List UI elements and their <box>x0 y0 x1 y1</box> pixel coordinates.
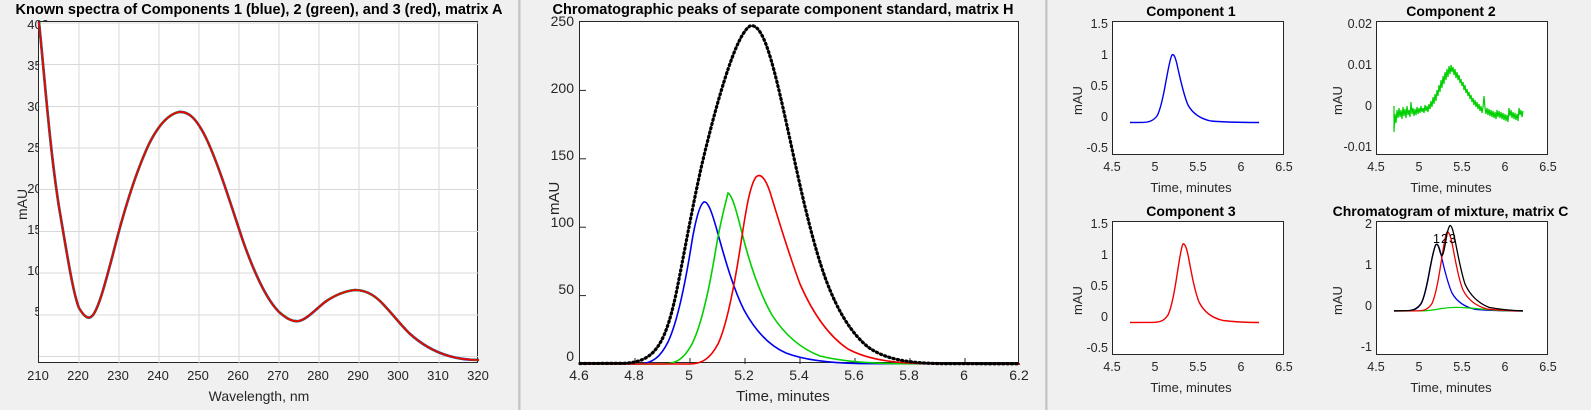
component1-xlabel: Time, minutes <box>1060 180 1322 195</box>
component2-ytick: 0 <box>1326 99 1372 113</box>
panel-components: Component 1 mAU Time, minutes 1.5 1 0.5 … <box>1048 0 1591 410</box>
mixture-plot <box>1377 222 1549 356</box>
component3-axes <box>1112 221 1284 355</box>
standards-ticks <box>580 90 965 364</box>
standards-xtick: 5.4 <box>779 367 819 383</box>
spectra-xtick: 230 <box>99 368 137 383</box>
mixture-ytick: -1 <box>1330 340 1372 354</box>
standards-xtick: 6.2 <box>999 367 1039 383</box>
mixture-xtick: 6.5 <box>1531 360 1565 374</box>
panel-standards: Chromatographic peaks of separate compon… <box>521 0 1045 410</box>
component1-xtick: 5.5 <box>1181 160 1215 174</box>
component1-xtick: 5 <box>1138 160 1172 174</box>
component3-xtick: 5.5 <box>1181 360 1215 374</box>
spectra-gridlines <box>39 22 479 364</box>
spectra-xtick: 300 <box>379 368 417 383</box>
standards-title: Chromatographic peaks of separate compon… <box>521 2 1045 18</box>
spectra-xtick: 220 <box>59 368 97 383</box>
standards-ytick: 250 <box>529 13 574 29</box>
standards-plot <box>580 22 1020 364</box>
component1-ytick: 1 <box>1070 48 1108 62</box>
spectra-xtick: 210 <box>19 368 57 383</box>
mixture-xlabel: Time, minutes <box>1320 380 1582 395</box>
standards-xtick: 5.6 <box>834 367 874 383</box>
component2-xtick: 5 <box>1402 160 1436 174</box>
mixture-annotation-1: 1 <box>1433 232 1440 246</box>
component3-ytick: -0.5 <box>1064 341 1108 355</box>
spectra-xtick: 250 <box>179 368 217 383</box>
component3-ytick: 1 <box>1070 248 1108 262</box>
spectra-xtick: 260 <box>219 368 257 383</box>
component2-xtick: 6 <box>1488 160 1522 174</box>
mixture-annotation-2: 2 <box>1441 232 1448 246</box>
component3-xtick: 6.5 <box>1267 360 1301 374</box>
standards-xlabel: Time, minutes <box>521 388 1045 405</box>
mixture-annotation-3: 3 <box>1449 232 1456 246</box>
figure-window: Known spectra of Components 1 (blue), 2 … <box>0 0 1591 410</box>
component1-ytick: 0.5 <box>1070 79 1108 93</box>
component1-ytick: 1.5 <box>1070 17 1108 31</box>
component1-xtick: 6 <box>1224 160 1258 174</box>
standards-ytick: 0 <box>529 348 574 364</box>
mixture-ytick: 1 <box>1334 258 1372 272</box>
spectra-plot <box>39 22 479 364</box>
component1-ytick: -0.5 <box>1064 141 1108 155</box>
spectra-xtick: 310 <box>419 368 457 383</box>
standards-ytick: 200 <box>529 80 574 96</box>
component1-xtick: 6.5 <box>1267 160 1301 174</box>
mixture-xtick: 6 <box>1488 360 1522 374</box>
component2-ytick: 0.02 <box>1326 17 1372 31</box>
standards-xtick: 6 <box>944 367 984 383</box>
spectra-xlabel: Wavelength, nm <box>0 388 518 404</box>
component3-ytick: 0 <box>1070 310 1108 324</box>
spectra-xtick: 240 <box>139 368 177 383</box>
standards-axes <box>579 21 1019 363</box>
mixture-axes <box>1376 221 1548 355</box>
spectra-xtick: 290 <box>339 368 377 383</box>
standards-ytick: 100 <box>529 214 574 230</box>
spectra-axes <box>38 21 478 363</box>
mixture-xtick: 5.5 <box>1445 360 1479 374</box>
component2-ytick: 0.01 <box>1326 58 1372 72</box>
standards-xtick: 5 <box>669 367 709 383</box>
component2-xtick: 6.5 <box>1531 160 1565 174</box>
mixture-ytick: 0 <box>1334 299 1372 313</box>
component3-ytick: 1.5 <box>1070 217 1108 231</box>
component1-ytick: 0 <box>1070 110 1108 124</box>
spectra-xtick: 270 <box>259 368 297 383</box>
component3-xtick: 4.5 <box>1095 360 1129 374</box>
mixture-xtick: 4.5 <box>1359 360 1393 374</box>
standards-xtick: 5.8 <box>889 367 929 383</box>
standards-ylabel: mAU <box>546 182 563 215</box>
standards-ytick: 150 <box>529 147 574 163</box>
component1-xtick: 4.5 <box>1095 160 1129 174</box>
spectra-xtick: 320 <box>459 368 497 383</box>
component1-plot <box>1113 22 1285 156</box>
standards-xtick: 4.6 <box>559 367 599 383</box>
component3-xtick: 6 <box>1224 360 1258 374</box>
standards-ytick: 50 <box>529 281 574 297</box>
component1-axes <box>1112 21 1284 155</box>
mixture-xtick: 5 <box>1402 360 1436 374</box>
spectra-title: Known spectra of Components 1 (blue), 2 … <box>0 2 518 18</box>
mixture-ytick: 2 <box>1334 217 1372 231</box>
component2-plot <box>1377 22 1549 156</box>
component2-xlabel: Time, minutes <box>1320 180 1582 195</box>
standards-xtick: 5.2 <box>724 367 764 383</box>
component2-ytick: -0.01 <box>1320 140 1372 154</box>
spectra-xtick: 280 <box>299 368 337 383</box>
component3-xlabel: Time, minutes <box>1060 380 1322 395</box>
component2-xtick: 4.5 <box>1359 160 1393 174</box>
component3-plot <box>1113 222 1285 356</box>
panel-spectra: Known spectra of Components 1 (blue), 2 … <box>0 0 518 410</box>
component3-xtick: 5 <box>1138 360 1172 374</box>
component2-axes <box>1376 21 1548 155</box>
standards-xtick: 4.8 <box>614 367 654 383</box>
component3-ytick: 0.5 <box>1070 279 1108 293</box>
component2-xtick: 5.5 <box>1445 160 1479 174</box>
